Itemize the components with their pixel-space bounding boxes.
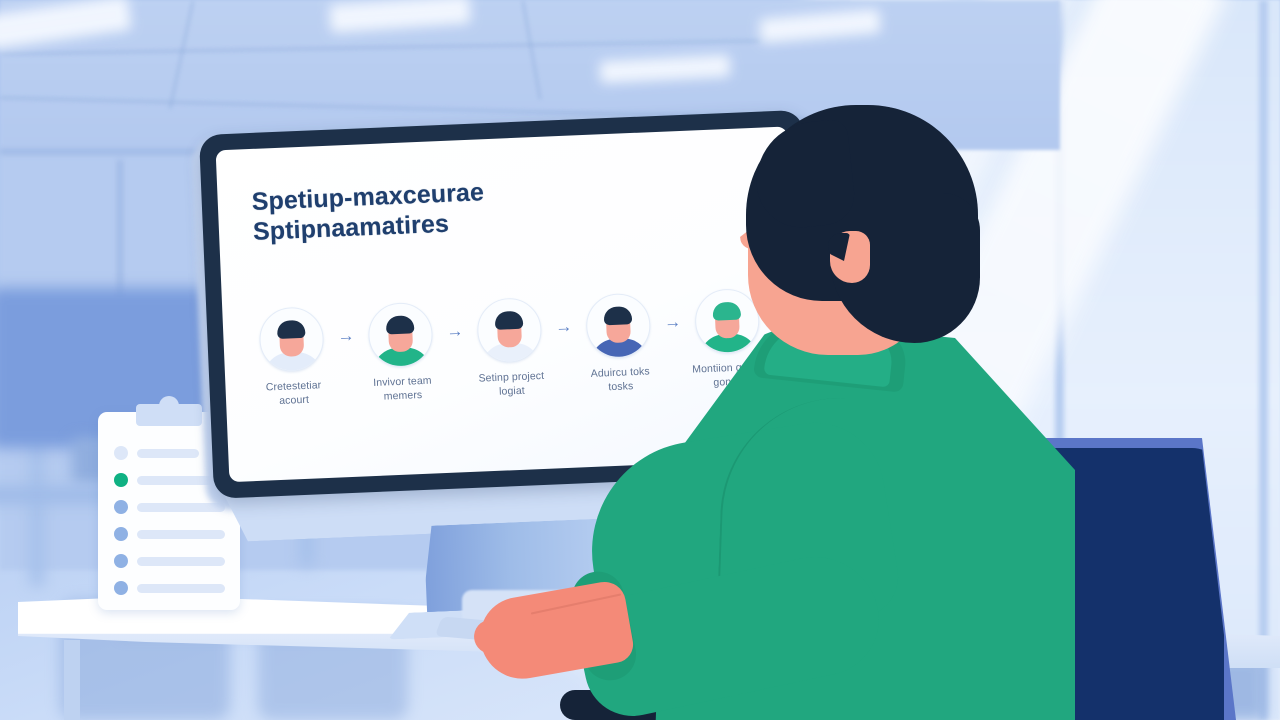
clipboard-row[interactable] (114, 500, 225, 514)
avatar-hair (386, 315, 415, 334)
clipboard-row[interactable] (114, 446, 199, 460)
clipboard-row[interactable] (114, 581, 225, 595)
step-label: Invivor team memers (373, 375, 432, 404)
step-label: Setinp project logiat (478, 370, 545, 400)
clipboard-checkbox[interactable] (114, 527, 128, 541)
onboarding-step[interactable]: Cretestetiar acourt (248, 306, 336, 409)
illustration-scene: Spetiup-maxceurae Sptipnaamatires Cretes… (0, 0, 1280, 720)
clipboard-checkbox[interactable] (114, 500, 128, 514)
avatar-hair (495, 311, 524, 330)
clipboard-text-line (137, 449, 199, 458)
step-arrow-icon: → (335, 305, 358, 368)
avatar (367, 302, 434, 369)
clipboard-text-line (137, 530, 225, 539)
step-label: Cretestetiar acourt (266, 379, 323, 408)
step-arrow-icon: → (444, 300, 467, 363)
clipboard-knob (159, 396, 179, 416)
avatar (258, 306, 325, 373)
onboarding-step[interactable]: Invivor team memers (357, 301, 445, 404)
clipboard-checkbox[interactable] (114, 554, 128, 568)
clipboard-text-line (137, 584, 225, 593)
desk-leg (64, 640, 80, 720)
clipboard-text-line (137, 503, 225, 512)
person (560, 105, 1280, 720)
onboarding-step[interactable]: Setinp project logiat (466, 297, 554, 400)
clipboard-checkbox[interactable] (114, 473, 128, 487)
avatar-hair (277, 320, 306, 339)
avatar (476, 297, 543, 364)
clipboard-checkbox[interactable] (114, 581, 128, 595)
clipboard-row[interactable] (114, 527, 225, 541)
clipboard-checkbox[interactable] (114, 446, 128, 460)
clipboard-text-line (137, 557, 225, 566)
clipboard-row[interactable] (114, 554, 225, 568)
